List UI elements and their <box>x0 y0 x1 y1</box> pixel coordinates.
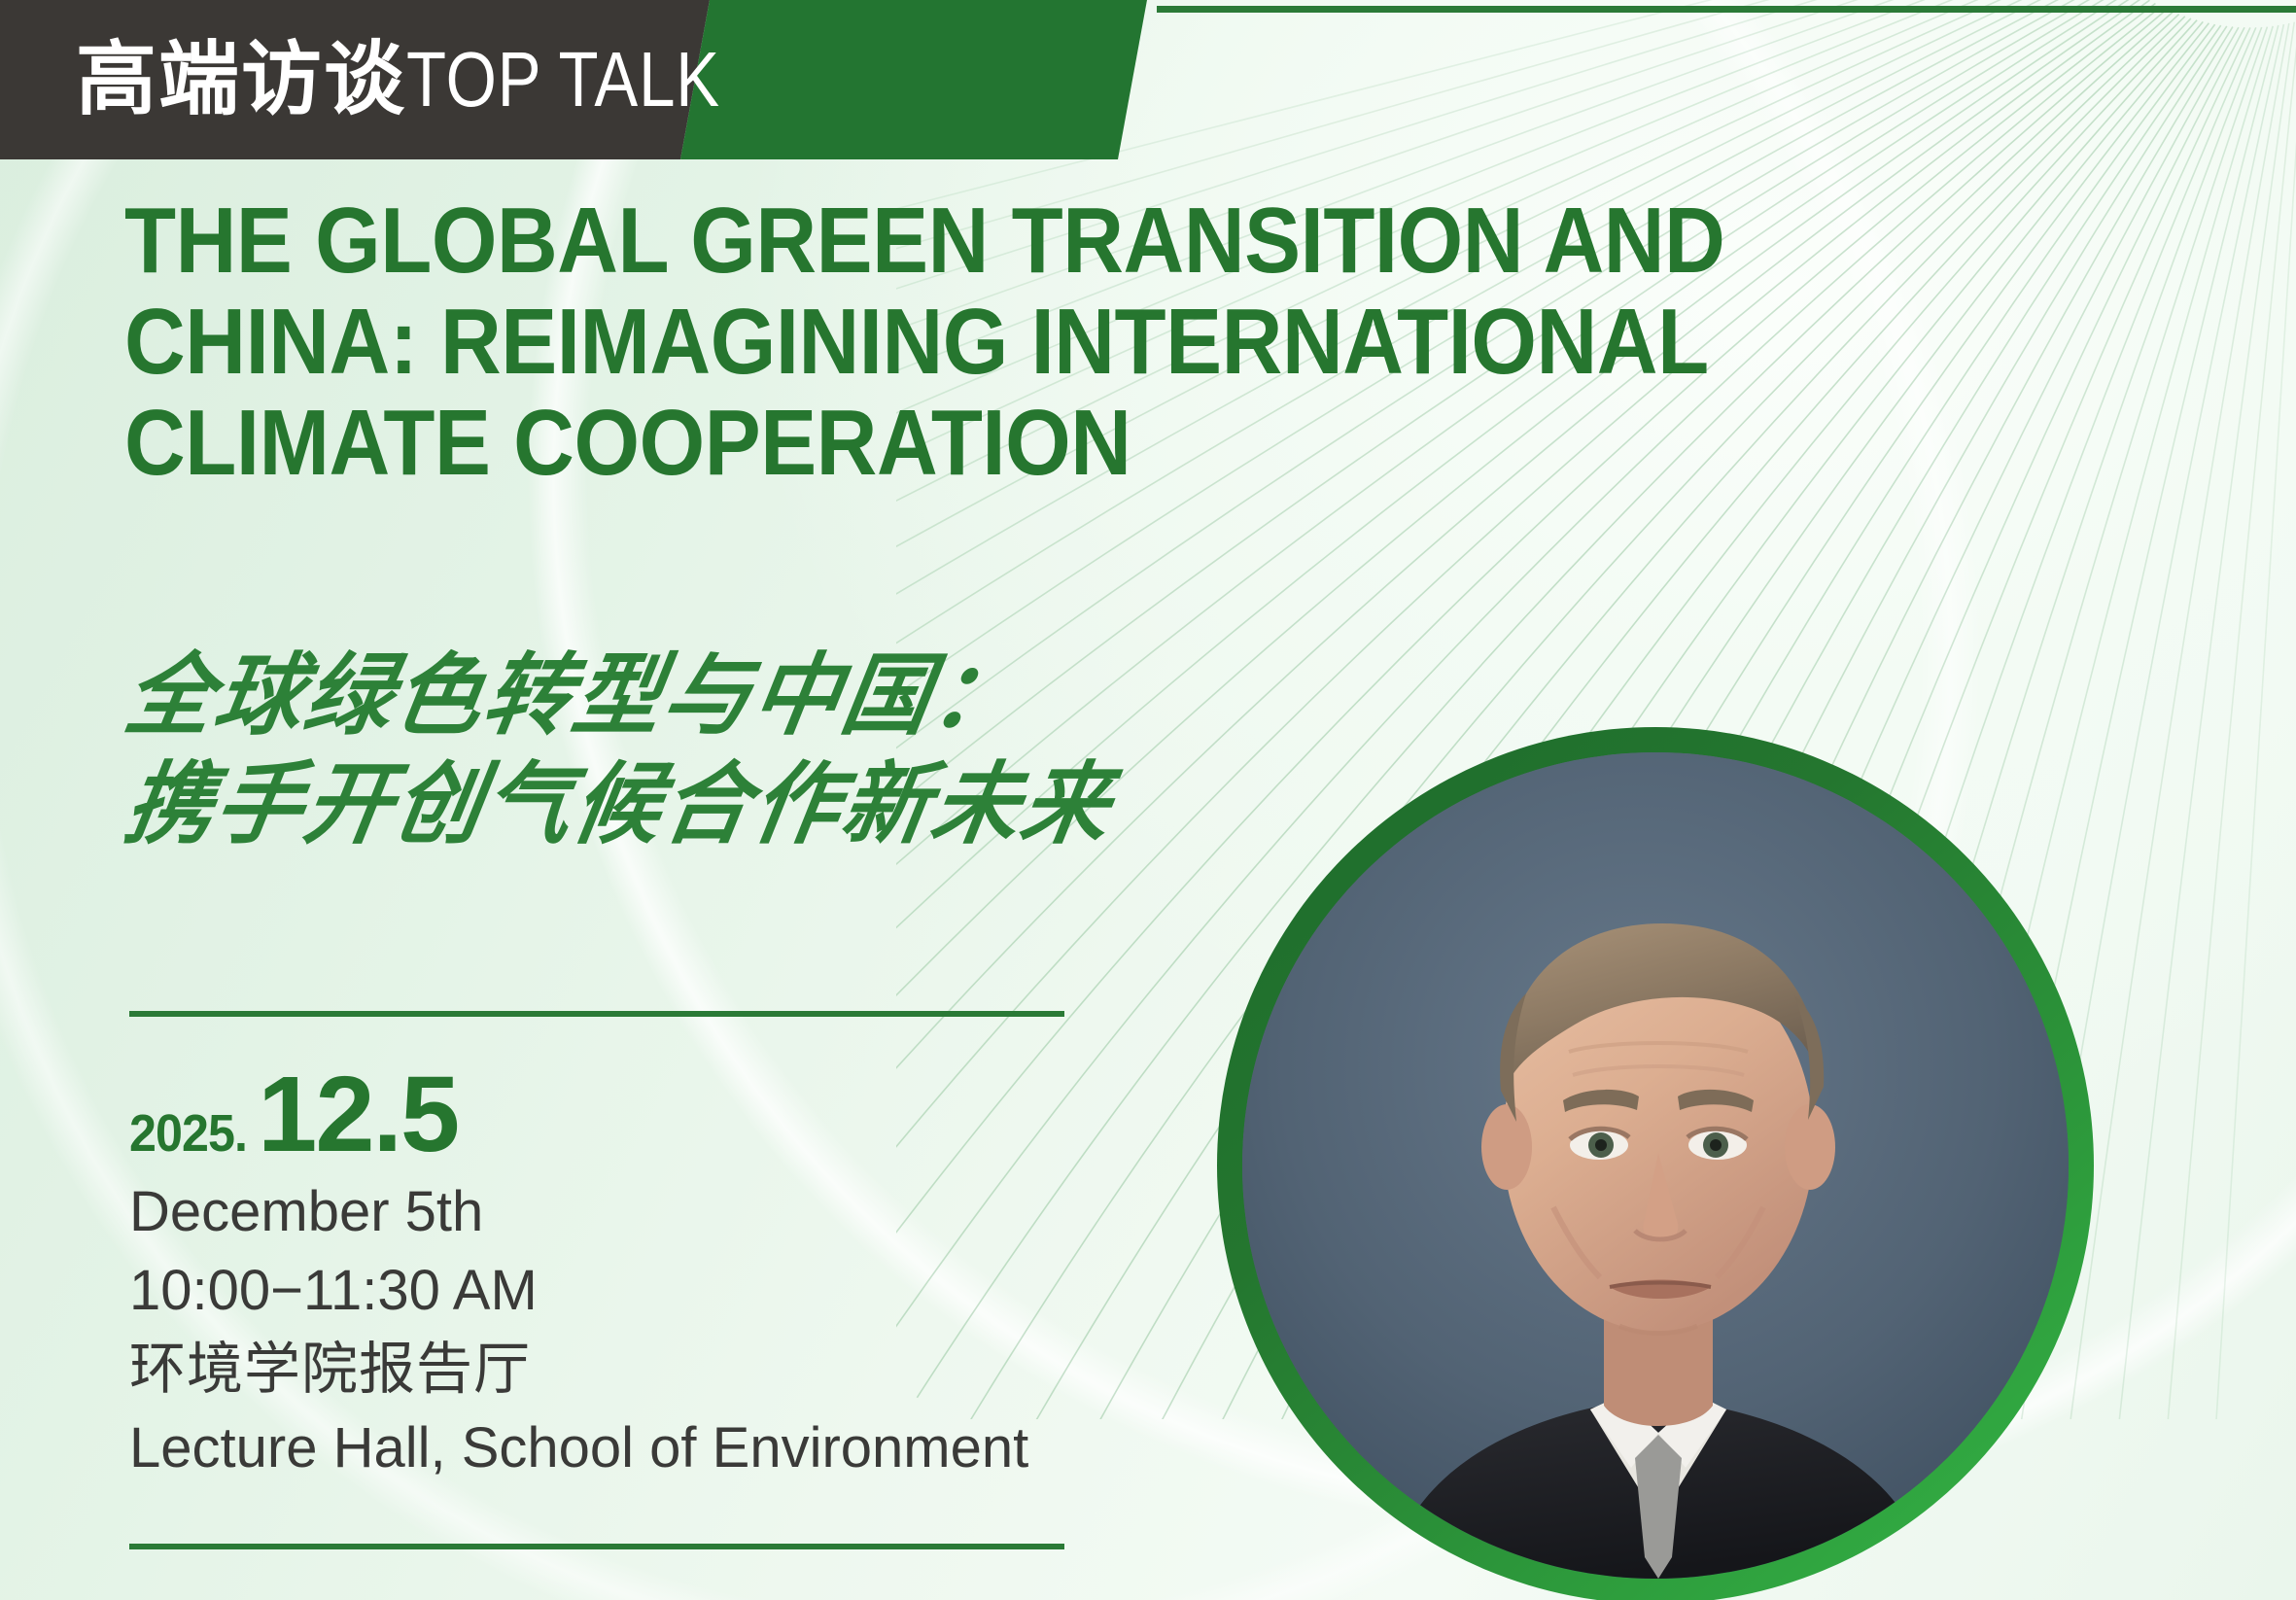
event-time: 10:00−11:30 AM <box>129 1251 1028 1330</box>
event-venue-en: Lecture Hall, School of Environment <box>129 1409 1028 1487</box>
event-year: 2025. <box>129 1103 247 1164</box>
subtitle-line-1: 全球绿色转型与中国： <box>118 642 1120 750</box>
event-date: 2025. 12.5 <box>129 1061 458 1168</box>
portrait-illustration <box>1242 752 2069 1579</box>
poster-title: THE GLOBAL GREEN TRANSITION AND CHINA: R… <box>124 191 1641 494</box>
event-day: 12.5 <box>258 1061 458 1168</box>
top-accent-rule <box>1157 6 2296 13</box>
portrait-photo <box>1242 752 2069 1579</box>
divider-rule-bottom <box>129 1544 1064 1549</box>
poster-subtitle: 全球绿色转型与中国： 携手开创气候合作新未来 <box>126 642 1142 859</box>
speaker-portrait <box>1217 727 2094 1600</box>
badge-label-cn: 高端访谈 <box>76 8 406 152</box>
subtitle-line-2: 携手开创气候合作新未来 <box>118 750 1120 859</box>
title-line-2: CHINA: REIMAGINING INTERNATIONAL <box>124 292 1497 393</box>
divider-rule-top <box>129 1011 1064 1017</box>
title-line-3: CLIMATE COOPERATION <box>124 393 1497 494</box>
event-details: December 5th 10:00−11:30 AM 环境学院报告厅 Lect… <box>129 1172 1028 1487</box>
event-venue-cn: 环境学院报告厅 <box>129 1330 1028 1409</box>
title-line-1: THE GLOBAL GREEN TRANSITION AND <box>124 191 1497 292</box>
header-ribbon: 高端访谈 TOP TALK <box>0 0 1166 159</box>
event-date-en: December 5th <box>129 1172 1028 1251</box>
poster-canvas: 高端访谈 TOP TALK THE GLOBAL GREEN TRANSITIO… <box>0 0 2296 1600</box>
badge-label-en: TOP TALK <box>406 6 720 154</box>
